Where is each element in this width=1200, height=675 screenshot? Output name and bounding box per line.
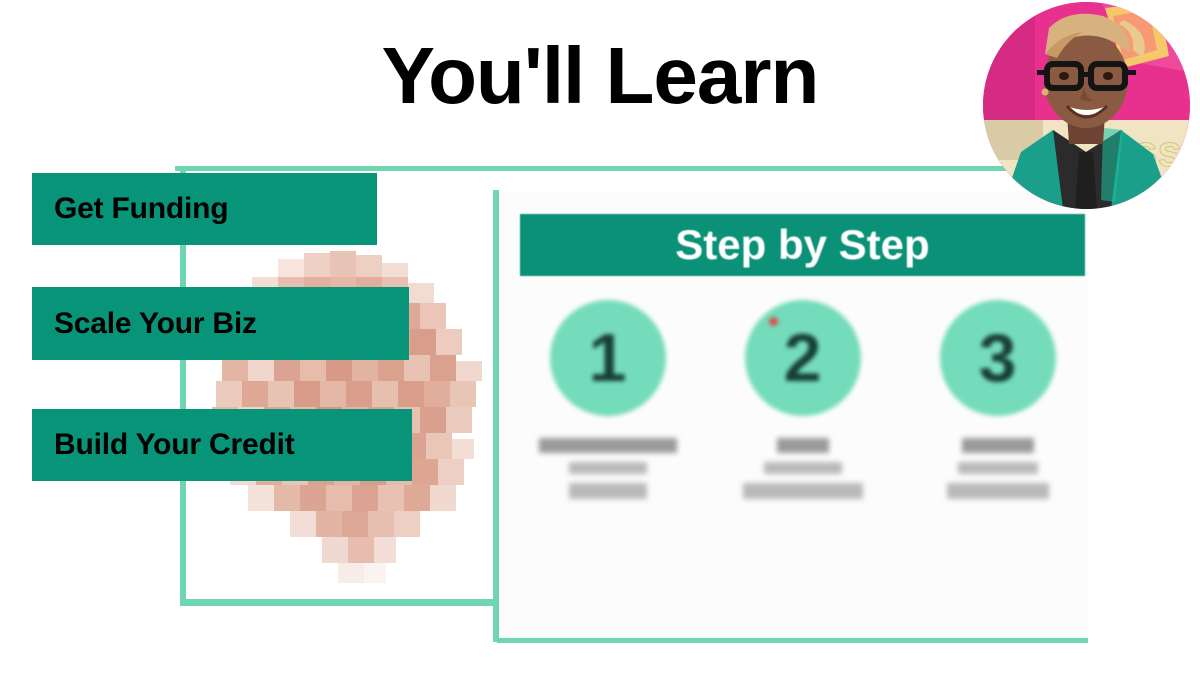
step-caption-3 [910, 438, 1085, 508]
step-item-1: 1 [520, 300, 695, 590]
step-item-3: 3 [910, 300, 1085, 590]
step-number-3: 3 [979, 324, 1017, 392]
label-bar-text: Scale Your Biz [54, 307, 257, 341]
label-bar-scale-your-biz[interactable]: Scale Your Biz [32, 287, 409, 360]
step-caption-1 [520, 438, 695, 508]
caption-line [958, 462, 1038, 474]
caption-line [764, 462, 842, 474]
label-bar-text: Build Your Credit [54, 428, 295, 462]
slide-canvas: You'll Learn [0, 0, 1200, 675]
step-circle-3: 3 [940, 300, 1056, 416]
step-item-2: 2 [715, 300, 890, 590]
step-caption-2 [715, 438, 890, 508]
caption-line [569, 483, 647, 499]
step-number-1: 1 [589, 324, 627, 392]
step-by-step-header-text: Step by Step [675, 221, 929, 269]
label-bar-get-funding[interactable]: Get Funding [32, 173, 377, 245]
step-by-step-header: Step by Step [520, 214, 1085, 276]
frame-line-left-bottom [180, 599, 498, 606]
label-bar-build-your-credit[interactable]: Build Your Credit [32, 409, 412, 481]
caption-line [947, 483, 1049, 499]
label-bar-text: Get Funding [54, 192, 228, 226]
step-circle-2: 2 [745, 300, 861, 416]
step-circle-1: 1 [550, 300, 666, 416]
avatar: ss [983, 2, 1190, 209]
caption-line [962, 438, 1034, 453]
caption-line [569, 462, 647, 474]
caption-line [539, 438, 677, 453]
caption-line [777, 438, 829, 453]
caption-line [743, 483, 863, 499]
red-dot-icon [769, 317, 778, 326]
frame-line-left-top [175, 166, 1061, 171]
steps-row: 1 2 3 [520, 300, 1085, 590]
step-number-2: 2 [784, 324, 822, 392]
